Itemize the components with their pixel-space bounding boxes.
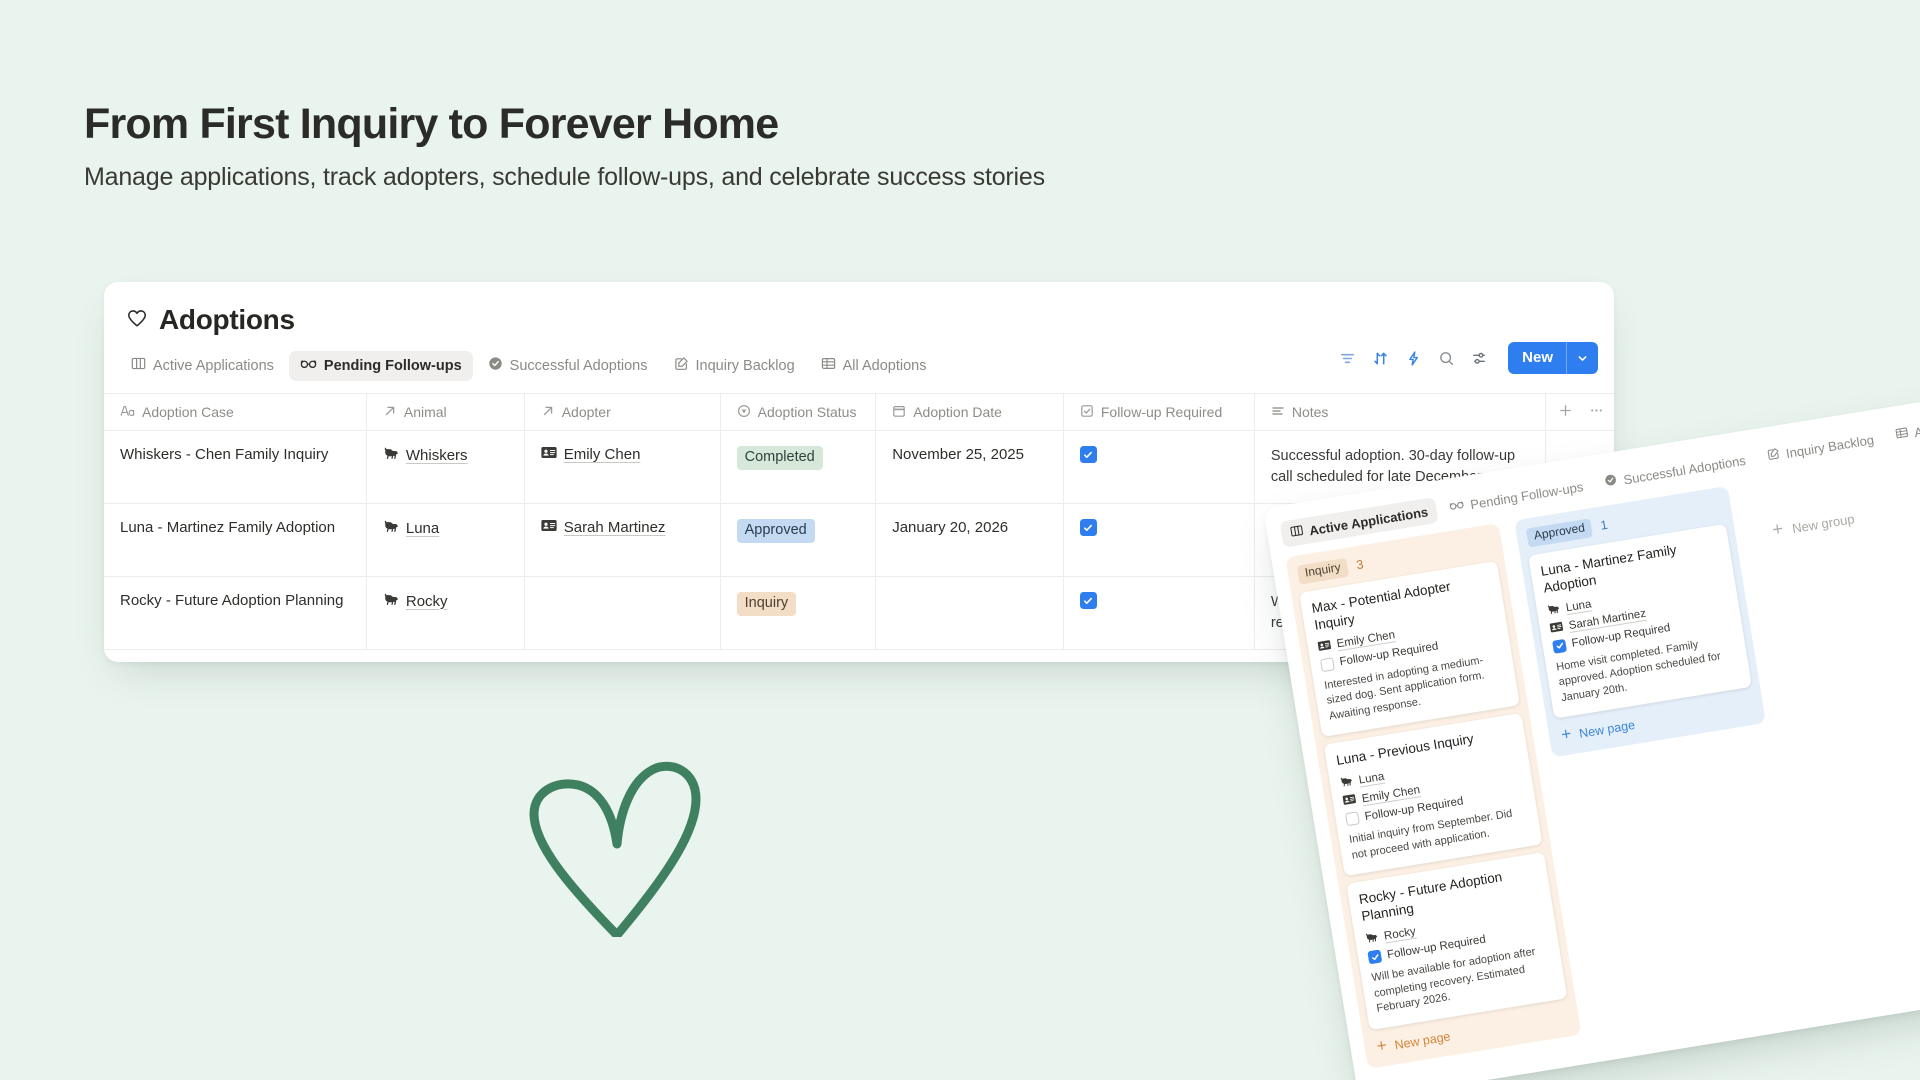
filter-icon[interactable] xyxy=(1339,350,1356,367)
chevron-down-icon[interactable] xyxy=(1566,342,1598,374)
tab-label: Inquiry Backlog xyxy=(696,358,795,374)
dog-icon xyxy=(1339,775,1354,791)
followup-checkbox[interactable] xyxy=(1345,812,1360,827)
cell-adopter xyxy=(524,577,720,650)
cell-date: November 25, 2025 xyxy=(876,431,1064,504)
sort-icon[interactable] xyxy=(1372,350,1389,367)
board-card[interactable]: Max - Potential Adopter Inquiry Emily Ch… xyxy=(1299,561,1520,738)
tab-active-applications[interactable]: Active Applications xyxy=(120,350,285,381)
column-header-follow-up-required[interactable]: Follow-up Required xyxy=(1063,394,1254,431)
status-badge: Completed xyxy=(737,446,823,470)
glasses-icon xyxy=(1448,498,1465,515)
tab-label: Active Applications xyxy=(153,358,274,374)
cell-case: Whiskers - Chen Family Inquiry xyxy=(104,431,366,504)
check-circle-icon xyxy=(1603,473,1618,491)
table-icon xyxy=(821,356,836,375)
cell-status: Completed xyxy=(720,431,876,504)
text-aa-icon xyxy=(120,404,135,420)
adopter-name: Emily Chen xyxy=(564,446,641,463)
heart-icon xyxy=(126,307,148,334)
table-header-row: Adoption Case Animal xyxy=(104,394,1614,431)
lightning-icon[interactable] xyxy=(1405,350,1422,367)
glasses-icon xyxy=(300,357,317,375)
plus-icon xyxy=(1559,727,1573,744)
pencil-square-icon xyxy=(1766,446,1781,464)
cell-followup xyxy=(1063,504,1254,577)
view-toolbar: New xyxy=(1339,342,1598,374)
cell-adopter: Sarah Martinez xyxy=(524,504,720,577)
column-header-adoption-date[interactable]: Adoption Date xyxy=(876,394,1064,431)
cell-followup xyxy=(1063,431,1254,504)
cell-case: Rocky - Future Adoption Planning xyxy=(104,577,366,650)
column-label: Notes xyxy=(1292,404,1329,420)
checkbox-icon xyxy=(1080,404,1094,421)
status-badge: Approved xyxy=(737,519,815,543)
relation-arrow-icon xyxy=(541,404,555,421)
status-badge: Inquiry xyxy=(737,592,797,616)
column-header-adopter[interactable]: Adopter xyxy=(524,394,720,431)
page-root: From First Inquiry to Forever Home Manag… xyxy=(0,0,1920,1080)
cell-followup xyxy=(1063,577,1254,650)
tab-inquiry-backlog[interactable]: Inquiry Backlog xyxy=(663,350,806,381)
contact-card-icon xyxy=(541,519,557,536)
new-button-label: New xyxy=(1508,342,1566,374)
cell-animal: Luna xyxy=(366,504,524,577)
dog-icon xyxy=(383,446,399,464)
column-label: Adopter xyxy=(562,404,611,420)
column-label: Adoption Date xyxy=(913,404,1002,420)
cell-status: Approved xyxy=(720,504,876,577)
column-badge: Approved xyxy=(1526,518,1594,547)
tab-successful-adoptions[interactable]: Successful Adoptions xyxy=(477,350,659,381)
followup-checkbox[interactable] xyxy=(1080,519,1097,536)
new-button[interactable]: New xyxy=(1508,342,1598,374)
column-count: 3 xyxy=(1355,558,1364,573)
new-page-label: New page xyxy=(1578,718,1636,741)
cell-case: Luna - Martinez Family Adoption xyxy=(104,504,366,577)
contact-card-icon xyxy=(1342,794,1357,809)
column-count: 1 xyxy=(1600,518,1609,533)
dog-icon xyxy=(383,592,399,610)
tab-all-adoptions[interactable]: All Adoptions xyxy=(810,350,938,381)
new-page-label: New page xyxy=(1394,1029,1452,1052)
plus-icon xyxy=(1375,1039,1389,1056)
board-card[interactable]: Rocky - Future Adoption Planning Rocky xyxy=(1346,853,1567,1031)
board-columns-icon xyxy=(131,356,146,375)
followup-checkbox[interactable] xyxy=(1080,592,1097,609)
calendar-icon xyxy=(892,404,906,421)
followup-checkbox[interactable] xyxy=(1320,657,1335,672)
column-header-adoption-case[interactable]: Adoption Case xyxy=(104,394,366,431)
app-title-text: Adoptions xyxy=(159,304,295,336)
dog-icon xyxy=(383,519,399,537)
tab-label: Pending Follow-ups xyxy=(324,358,462,374)
animal-name: Rocky xyxy=(406,593,448,610)
ellipsis-icon[interactable] xyxy=(1589,403,1604,421)
contact-card-icon xyxy=(541,446,557,463)
animal-name: Luna xyxy=(1358,771,1385,787)
contact-card-icon xyxy=(1317,639,1332,654)
followup-checkbox[interactable] xyxy=(1080,446,1097,463)
board-tab-all-adoptions[interactable]: All Adoptions xyxy=(1884,406,1920,450)
heart-doodle-icon xyxy=(520,752,710,942)
animal-name: Whiskers xyxy=(406,447,468,464)
sliders-icon[interactable] xyxy=(1471,350,1488,367)
cell-animal: Rocky xyxy=(366,577,524,650)
cell-status: Inquiry xyxy=(720,577,876,650)
page-subtitle: Manage applications, track adopters, sch… xyxy=(84,163,1684,192)
cell-date: January 20, 2026 xyxy=(876,504,1064,577)
plus-icon xyxy=(1770,522,1785,540)
column-header-notes[interactable]: Notes xyxy=(1254,394,1545,431)
column-header-adoption-status[interactable]: Adoption Status xyxy=(720,394,876,431)
board-column-approved: Approved 1 Luna - Martinez Family Adopti… xyxy=(1514,486,1766,758)
animal-name: Luna xyxy=(406,520,439,537)
cell-animal: Whiskers xyxy=(366,431,524,504)
followup-checkbox[interactable] xyxy=(1552,638,1567,653)
pencil-square-icon xyxy=(674,356,689,375)
followup-checkbox[interactable] xyxy=(1367,950,1382,965)
column-label: Adoption Case xyxy=(142,404,234,420)
column-label: Adoption Status xyxy=(758,404,857,420)
tab-label: All Adoptions xyxy=(843,358,927,374)
column-header-animal[interactable]: Animal xyxy=(366,394,524,431)
view-tabs: Active Applications Pending Follow-ups S… xyxy=(104,336,1614,381)
column-label: Animal xyxy=(404,404,447,420)
board-columns-icon xyxy=(1289,523,1304,541)
column-badge: Inquiry xyxy=(1297,558,1349,585)
status-circle-icon xyxy=(737,404,751,421)
hero-block: From First Inquiry to Forever Home Manag… xyxy=(84,100,1684,192)
page-title: From First Inquiry to Forever Home xyxy=(84,100,1684,149)
search-icon[interactable] xyxy=(1438,350,1455,367)
cell-adopter: Emily Chen xyxy=(524,431,720,504)
animal-name: Luna xyxy=(1565,598,1592,614)
tab-label: Successful Adoptions xyxy=(510,358,648,374)
dog-icon xyxy=(1364,931,1379,947)
tab-label: All Adoptions xyxy=(1913,413,1920,440)
text-lines-icon xyxy=(1271,404,1285,421)
board-card[interactable]: Luna - Martinez Family Adoption Luna Sa xyxy=(1528,524,1752,719)
board-card[interactable]: Luna - Previous Inquiry Luna Emily Chen xyxy=(1324,713,1543,876)
adopter-name: Sarah Martinez xyxy=(564,519,666,536)
cell-date xyxy=(876,577,1064,650)
app-header: Adoptions xyxy=(104,282,1614,336)
plus-icon[interactable] xyxy=(1558,403,1573,421)
animal-name: Rocky xyxy=(1383,926,1416,943)
table-icon xyxy=(1894,425,1909,443)
column-header-actions xyxy=(1546,394,1615,431)
column-label: Follow-up Required xyxy=(1101,404,1222,420)
relation-arrow-icon xyxy=(383,404,397,421)
tab-pending-follow-ups[interactable]: Pending Follow-ups xyxy=(289,351,473,381)
dog-icon xyxy=(1546,602,1561,618)
contact-card-icon xyxy=(1549,621,1564,636)
check-circle-icon xyxy=(488,356,503,375)
